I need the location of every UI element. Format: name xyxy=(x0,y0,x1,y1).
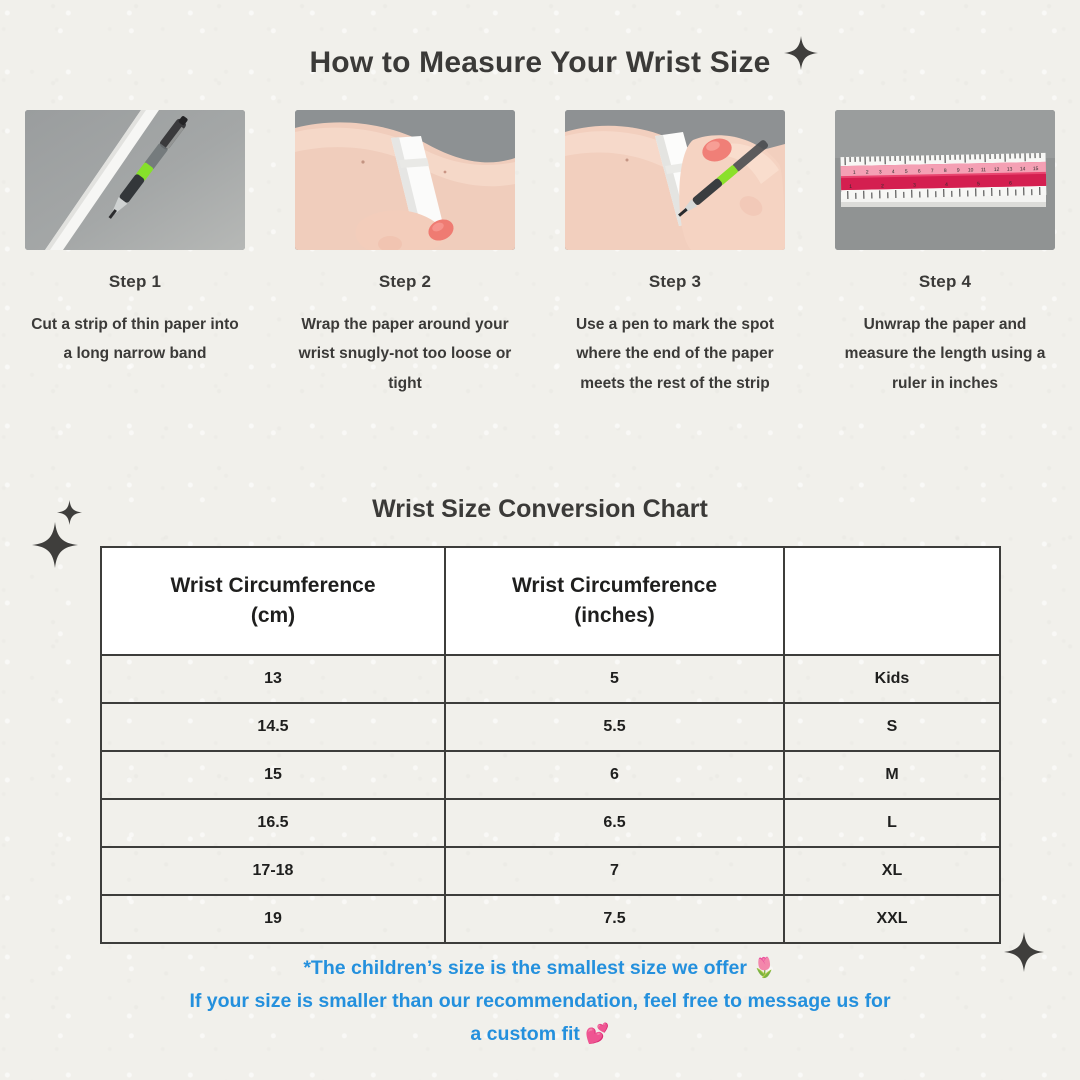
steps-row: Step 1 Cut a strip of thin paper into a … xyxy=(0,110,1080,398)
table-row: 13 5 Kids xyxy=(101,655,1000,703)
step-2-photo xyxy=(295,110,515,250)
svg-text:5: 5 xyxy=(977,181,980,187)
svg-text:1: 1 xyxy=(849,184,852,190)
step-1-description: Cut a strip of thin paper into a long na… xyxy=(28,310,243,369)
cell-inches: 6 xyxy=(445,751,784,799)
footer-note: *The children’s size is the smallest siz… xyxy=(60,952,1020,1050)
svg-text:12: 12 xyxy=(994,167,1000,173)
cell-inches: 5 xyxy=(445,655,784,703)
column-header-inches-line2: (inches) xyxy=(574,604,655,627)
step-4-label: Step 4 xyxy=(919,272,971,292)
cell-size: Kids xyxy=(784,655,1000,703)
svg-text:4: 4 xyxy=(892,169,895,175)
cell-cm: 15 xyxy=(101,751,445,799)
table-header-row: Wrist Circumference (cm) Wrist Circumfer… xyxy=(101,547,1000,655)
cell-size: S xyxy=(784,703,1000,751)
cell-size: XXL xyxy=(784,895,1000,943)
sparkle-four-point-icon xyxy=(784,36,818,70)
column-header-size xyxy=(784,547,1000,655)
page-title: How to Measure Your Wrist Size xyxy=(0,46,1080,80)
step-3-photo xyxy=(565,110,785,250)
step-3-description: Use a pen to mark the spot where the end… xyxy=(568,310,783,398)
step-1-photo xyxy=(25,110,245,250)
wrist-size-guide-page: How to Measure Your Wrist Size xyxy=(0,0,1080,1080)
table-row: 17-18 7 XL xyxy=(101,847,1000,895)
conversion-chart-title: Wrist Size Conversion Chart xyxy=(0,495,1080,524)
step-2-label: Step 2 xyxy=(379,272,431,292)
wrist-size-conversion-table: Wrist Circumference (cm) Wrist Circumfer… xyxy=(100,546,1001,944)
step-1-label: Step 1 xyxy=(109,272,161,292)
column-header-inches: Wrist Circumference (inches) xyxy=(445,547,784,655)
svg-text:9: 9 xyxy=(957,168,960,174)
cell-inches: 7.5 xyxy=(445,895,784,943)
svg-text:4: 4 xyxy=(945,182,948,188)
step-3-label: Step 3 xyxy=(649,272,701,292)
table-row: 14.5 5.5 S xyxy=(101,703,1000,751)
cell-cm: 19 xyxy=(101,895,445,943)
column-header-cm-line2: (cm) xyxy=(251,604,295,627)
step-item-4: 123 456 789 101112 131415 123 456 xyxy=(810,110,1080,398)
cell-cm: 16.5 xyxy=(101,799,445,847)
step-4-description: Unwrap the paper and measure the length … xyxy=(838,310,1053,398)
svg-text:7: 7 xyxy=(931,168,934,174)
table-row: 16.5 6.5 L xyxy=(101,799,1000,847)
column-header-inches-line1: Wrist Circumference xyxy=(512,574,717,597)
step-item-1: Step 1 Cut a strip of thin paper into a … xyxy=(0,110,270,398)
svg-text:10: 10 xyxy=(968,167,974,173)
svg-text:1: 1 xyxy=(853,170,856,176)
column-header-cm: Wrist Circumference (cm) xyxy=(101,547,445,655)
cell-size: M xyxy=(784,751,1000,799)
cell-inches: 5.5 xyxy=(445,703,784,751)
svg-text:3: 3 xyxy=(879,169,882,175)
svg-text:15: 15 xyxy=(1033,166,1039,172)
svg-text:11: 11 xyxy=(981,167,987,173)
step-item-2: Step 2 Wrap the paper around your wrist … xyxy=(270,110,540,398)
svg-text:2: 2 xyxy=(881,183,884,189)
step-4-photo: 123 456 789 101112 131415 123 456 xyxy=(835,110,1055,250)
cell-size: L xyxy=(784,799,1000,847)
svg-text:6: 6 xyxy=(918,169,921,175)
cell-cm: 13 xyxy=(101,655,445,703)
svg-text:14: 14 xyxy=(1020,166,1026,172)
svg-text:2: 2 xyxy=(866,170,869,176)
table-row: 19 7.5 XXL xyxy=(101,895,1000,943)
cell-cm: 14.5 xyxy=(101,703,445,751)
footer-line-2: If your size is smaller than our recomme… xyxy=(60,985,1020,1018)
cell-inches: 6.5 xyxy=(445,799,784,847)
svg-text:3: 3 xyxy=(913,183,916,189)
sparkle-four-point-icon xyxy=(32,522,78,568)
column-header-cm-line1: Wrist Circumference xyxy=(170,574,375,597)
cell-size: XL xyxy=(784,847,1000,895)
cell-cm: 17-18 xyxy=(101,847,445,895)
svg-text:6: 6 xyxy=(1009,181,1012,187)
cell-inches: 7 xyxy=(445,847,784,895)
svg-text:13: 13 xyxy=(1007,167,1013,173)
svg-text:5: 5 xyxy=(905,169,908,175)
footer-line-1: *The children’s size is the smallest siz… xyxy=(60,952,1020,985)
table-row: 15 6 M xyxy=(101,751,1000,799)
step-2-description: Wrap the paper around your wrist snugly-… xyxy=(298,310,513,398)
footer-line-3: a custom fit 💕 xyxy=(60,1018,1020,1051)
step-item-3: Step 3 Use a pen to mark the spot where … xyxy=(540,110,810,398)
svg-text:8: 8 xyxy=(944,168,947,174)
